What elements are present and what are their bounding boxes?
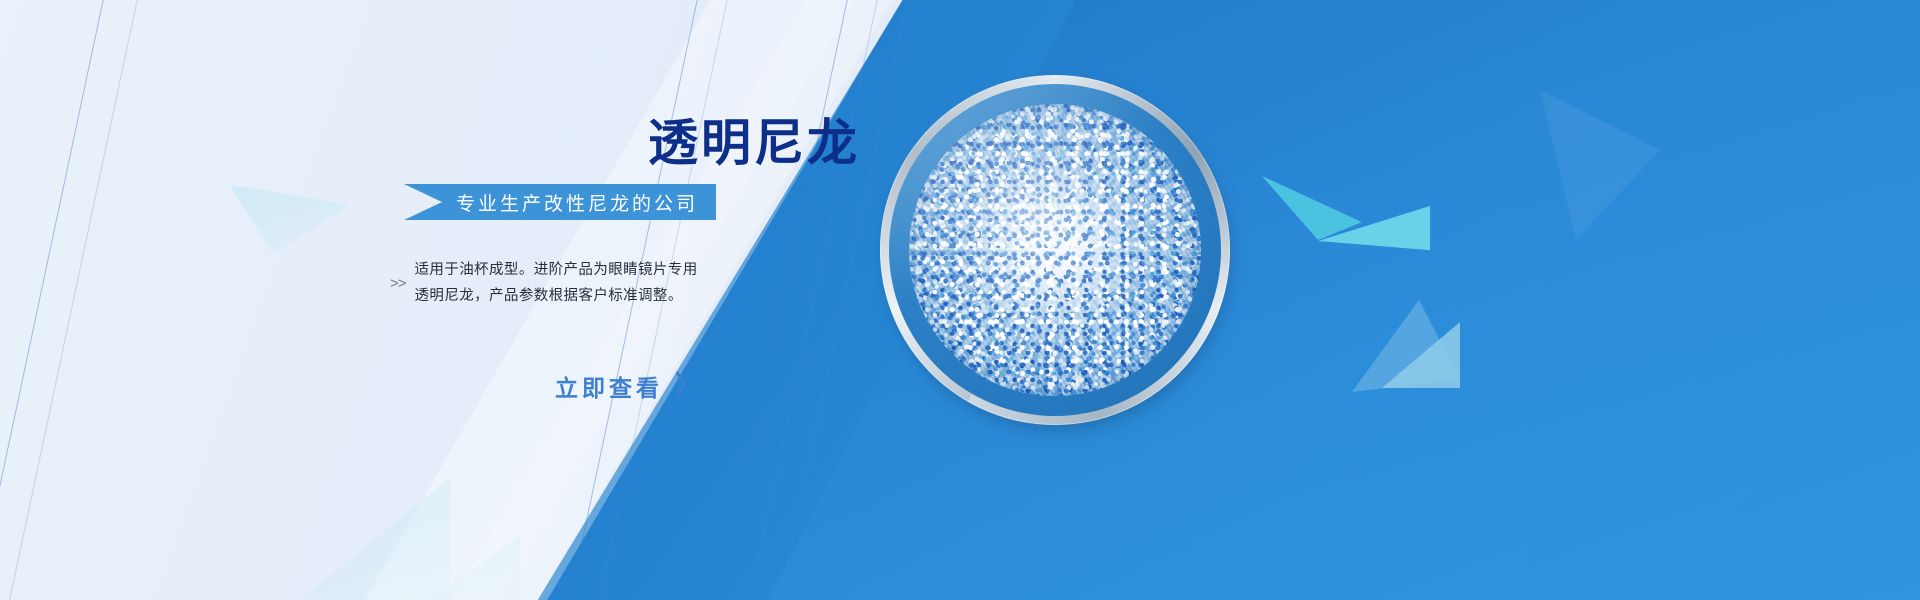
nylon-granules-texture	[909, 104, 1201, 396]
cta-label: 立即查看	[555, 369, 663, 403]
promo-banner: 透明尼龙 专业生产改性尼龙的公司 >> 适用于油杯成型。进阶产品为眼睛镜片专用 …	[0, 0, 1920, 600]
page-title: 透明尼龙	[390, 118, 860, 168]
description-row: >> 适用于油杯成型。进阶产品为眼睛镜片专用 透明尼龙，产品参数根据客户标准调整…	[390, 242, 860, 325]
petri-dish-interior	[889, 84, 1221, 416]
product-image	[880, 75, 1230, 425]
ribbon-row: 专业生产改性尼龙的公司	[390, 184, 860, 220]
chevron-right-icon: 〉	[675, 373, 700, 398]
banner-content: 透明尼龙 专业生产改性尼龙的公司 >> 适用于油杯成型。进阶产品为眼睛镜片专用 …	[390, 118, 860, 403]
cta-link[interactable]: 立即查看 〉	[390, 369, 860, 403]
tagline-ribbon: 专业生产改性尼龙的公司	[404, 184, 716, 220]
double-chevron-icon: >>	[390, 275, 406, 292]
description-text: 适用于油杯成型。进阶产品为眼睛镜片专用 透明尼龙，产品参数根据客户标准调整。	[415, 257, 698, 311]
